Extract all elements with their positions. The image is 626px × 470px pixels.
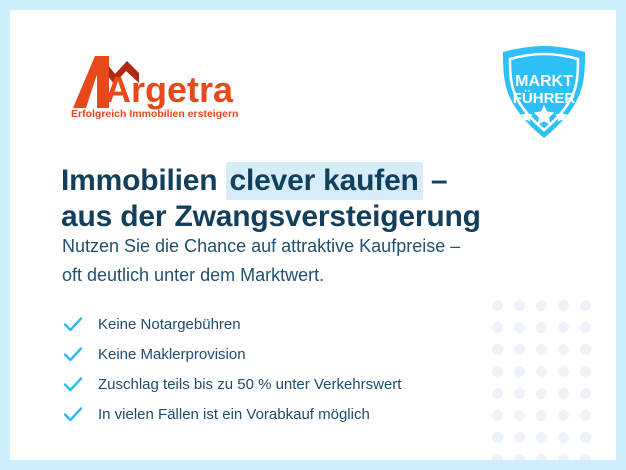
badge-line1: MARKT bbox=[515, 73, 573, 90]
dot bbox=[514, 388, 525, 399]
list-item: In vielen Fällen ist ein Vorabkauf mögli… bbox=[62, 399, 401, 429]
list-item: Keine Notargebühren bbox=[62, 309, 401, 339]
dot bbox=[558, 322, 569, 333]
benefits-list: Keine Notargebühren Keine Maklerprovisio… bbox=[62, 309, 401, 429]
check-icon bbox=[62, 343, 84, 365]
dot bbox=[580, 432, 591, 443]
headline-line-1: Immobilien clever kaufen – bbox=[61, 163, 481, 199]
dot-grid-decoration bbox=[492, 300, 602, 470]
dot bbox=[492, 300, 503, 311]
dot bbox=[514, 300, 525, 311]
page-title: Immobilien clever kaufen – aus der Zwang… bbox=[61, 163, 481, 235]
dot bbox=[514, 454, 525, 465]
list-item: Keine Maklerprovision bbox=[62, 339, 401, 369]
argetra-logo[interactable]: Argetra Erfolgreich Immobilien ersteiger… bbox=[65, 50, 265, 122]
dot bbox=[558, 454, 569, 465]
logo-a-slash bbox=[73, 56, 109, 108]
dot bbox=[492, 322, 503, 333]
dot bbox=[514, 344, 525, 355]
list-item-label: Keine Notargebühren bbox=[98, 316, 241, 333]
list-item-label: Zuschlag teils bis zu 50 % unter Verkehr… bbox=[98, 376, 401, 393]
dot bbox=[536, 322, 547, 333]
dot bbox=[492, 454, 503, 465]
dot bbox=[580, 388, 591, 399]
dot bbox=[514, 366, 525, 377]
dot bbox=[580, 344, 591, 355]
dot bbox=[492, 388, 503, 399]
markt-fuehrer-badge: MARKT FÜHRER bbox=[496, 43, 592, 141]
dot bbox=[536, 344, 547, 355]
dot bbox=[492, 366, 503, 377]
headline-suffix: – bbox=[423, 164, 448, 197]
dot bbox=[580, 410, 591, 421]
dot bbox=[536, 432, 547, 443]
dot bbox=[558, 344, 569, 355]
dot bbox=[558, 366, 569, 377]
dot bbox=[536, 300, 547, 311]
dot bbox=[514, 432, 525, 443]
list-item-label: Keine Maklerprovision bbox=[98, 346, 246, 363]
dot bbox=[514, 410, 525, 421]
dot bbox=[558, 388, 569, 399]
dot bbox=[580, 300, 591, 311]
headline-highlight: clever kaufen bbox=[226, 162, 423, 200]
dot bbox=[492, 410, 503, 421]
logo-tagline: Erfolgreich Immobilien ersteigern bbox=[71, 108, 238, 120]
check-icon bbox=[62, 313, 84, 335]
dot bbox=[536, 454, 547, 465]
dot bbox=[536, 410, 547, 421]
dot bbox=[492, 432, 503, 443]
dot bbox=[580, 454, 591, 465]
check-icon bbox=[62, 403, 84, 425]
dot bbox=[514, 322, 525, 333]
dot bbox=[558, 300, 569, 311]
check-icon bbox=[62, 373, 84, 395]
dot bbox=[536, 366, 547, 377]
subheadline-line-2: oft deutlich unter dem Marktwert. bbox=[62, 261, 460, 290]
subheadline: Nutzen Sie die Chance auf attraktive Kau… bbox=[62, 232, 460, 290]
subheadline-line-1: Nutzen Sie die Chance auf attraktive Kau… bbox=[62, 232, 460, 261]
logo-wordmark: Argetra bbox=[105, 69, 234, 110]
dot bbox=[580, 322, 591, 333]
dot bbox=[558, 432, 569, 443]
headline-prefix: Immobilien bbox=[61, 164, 226, 197]
promo-poster: Argetra Erfolgreich Immobilien ersteiger… bbox=[0, 0, 626, 470]
dot bbox=[492, 344, 503, 355]
list-item-label: In vielen Fällen ist ein Vorabkauf mögli… bbox=[98, 406, 370, 423]
dot bbox=[558, 410, 569, 421]
badge-line2: FÜHRER bbox=[513, 90, 576, 107]
headline-line-2: aus der Zwangsversteigerung bbox=[61, 199, 481, 235]
dot bbox=[536, 388, 547, 399]
list-item: Zuschlag teils bis zu 50 % unter Verkehr… bbox=[62, 369, 401, 399]
dot bbox=[580, 366, 591, 377]
